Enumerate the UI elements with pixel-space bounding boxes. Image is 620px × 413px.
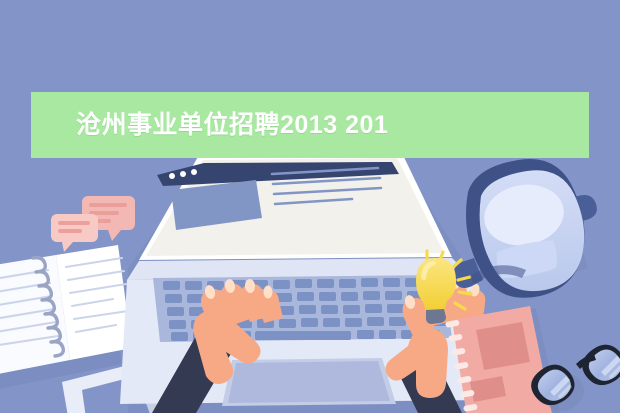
desk-workspace-illustration bbox=[0, 0, 620, 413]
title-banner: 沧州事业单位招聘2013 201 bbox=[31, 92, 589, 158]
page-title: 沧州事业单位招聘2013 201 bbox=[76, 113, 388, 138]
screenshot-root: 沧州事业单位招聘2013 201 bbox=[0, 0, 620, 413]
pink-notebook-label-large bbox=[476, 322, 530, 370]
bulb-base bbox=[426, 309, 446, 324]
